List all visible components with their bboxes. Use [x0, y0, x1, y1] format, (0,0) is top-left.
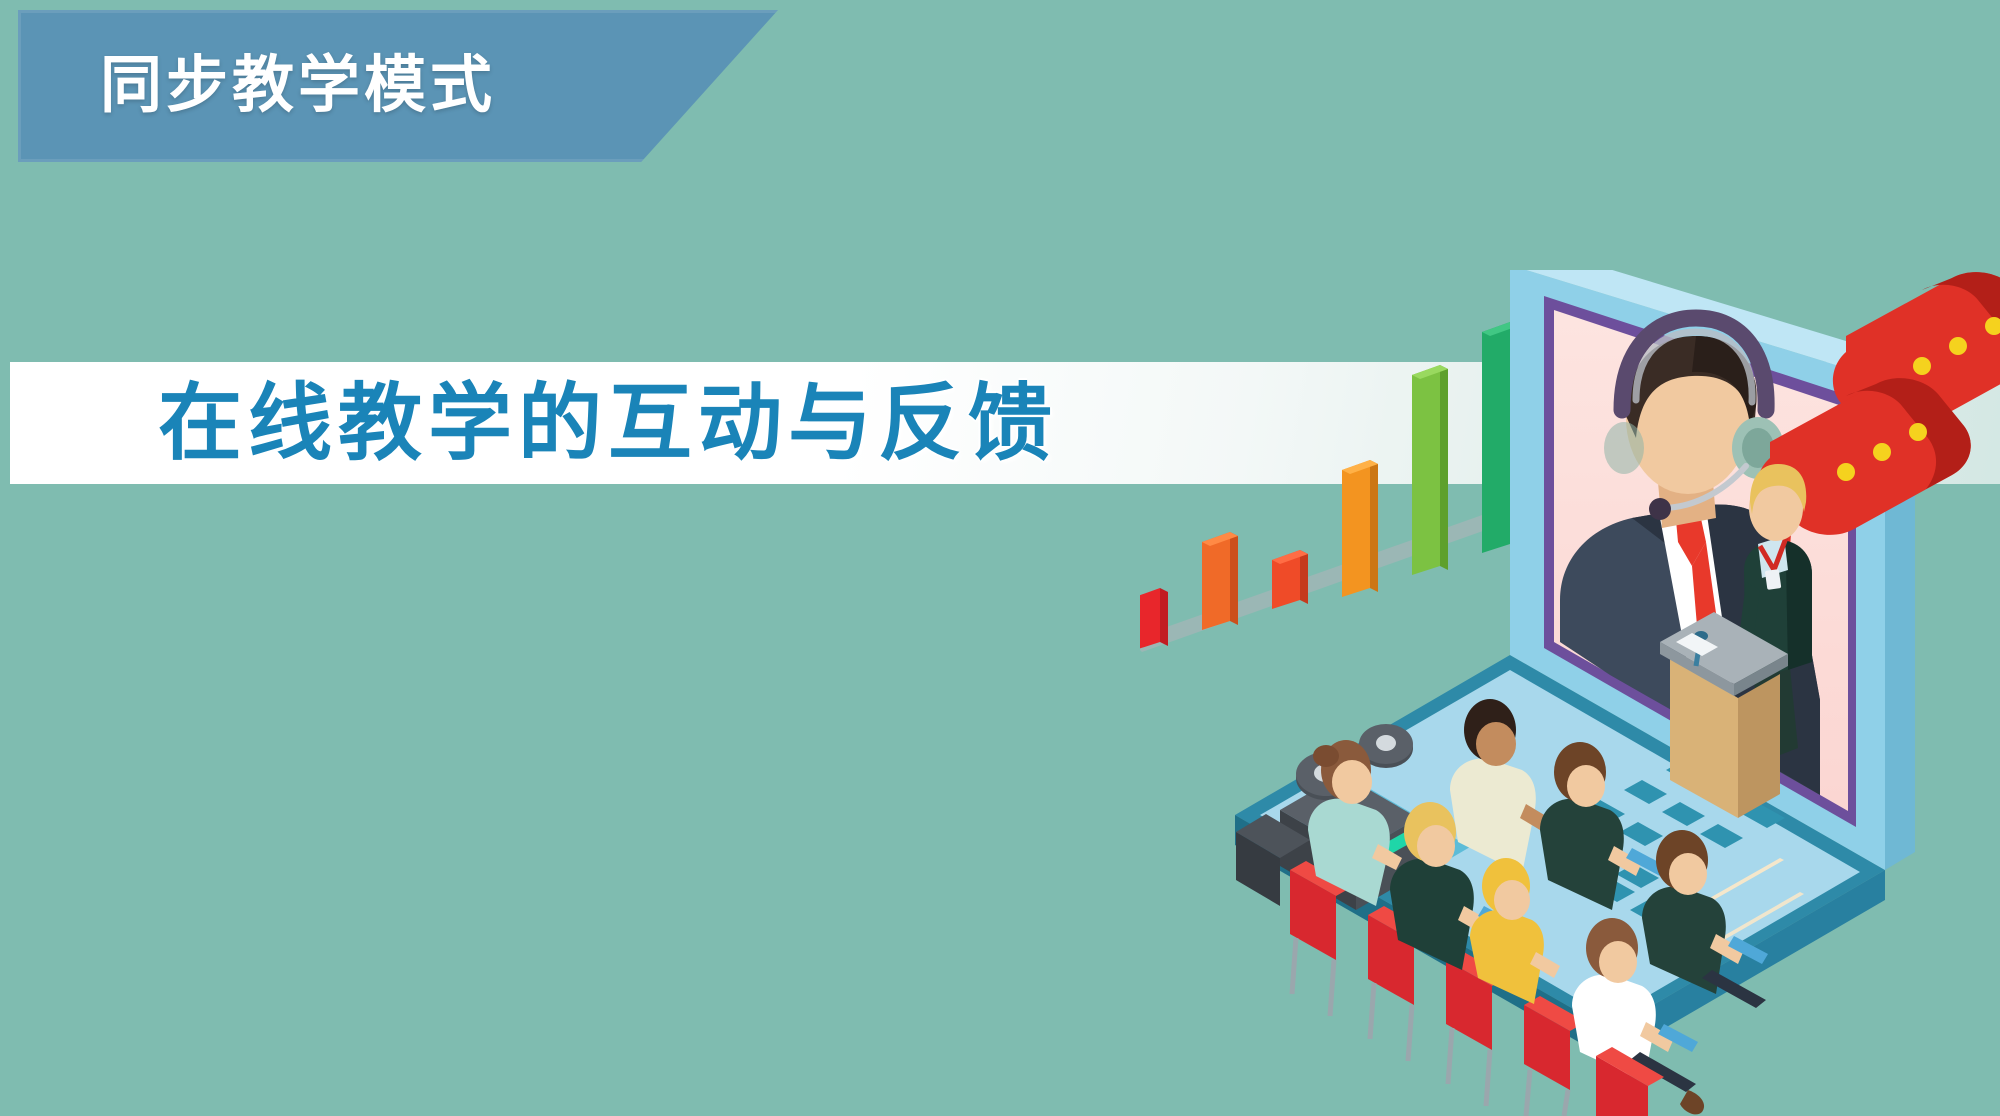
- bar-1: [1140, 588, 1168, 651]
- illustration-svg: [1140, 270, 2000, 1116]
- section-tag-banner: 同步教学模式: [18, 10, 778, 162]
- chat-dot: [1949, 337, 1967, 355]
- speaker-badge: [1765, 569, 1782, 590]
- bar-2: [1202, 532, 1238, 630]
- bar-3: [1272, 550, 1308, 609]
- bar-4: [1342, 460, 1378, 597]
- illustration-online-classroom: [1140, 270, 2000, 1116]
- chat-dot: [1909, 423, 1927, 441]
- headset-mic: [1649, 498, 1671, 520]
- bar-5: [1412, 365, 1448, 575]
- chat-dot: [1913, 357, 1931, 375]
- page-title: 在线教学的互动与反馈: [158, 381, 1058, 465]
- slide-root: 同步教学模式 在线教学的互动与反馈: [0, 0, 2000, 1116]
- section-tag-label: 同步教学模式: [100, 55, 496, 117]
- chat-dot: [1873, 443, 1891, 461]
- chat-dot: [1837, 463, 1855, 481]
